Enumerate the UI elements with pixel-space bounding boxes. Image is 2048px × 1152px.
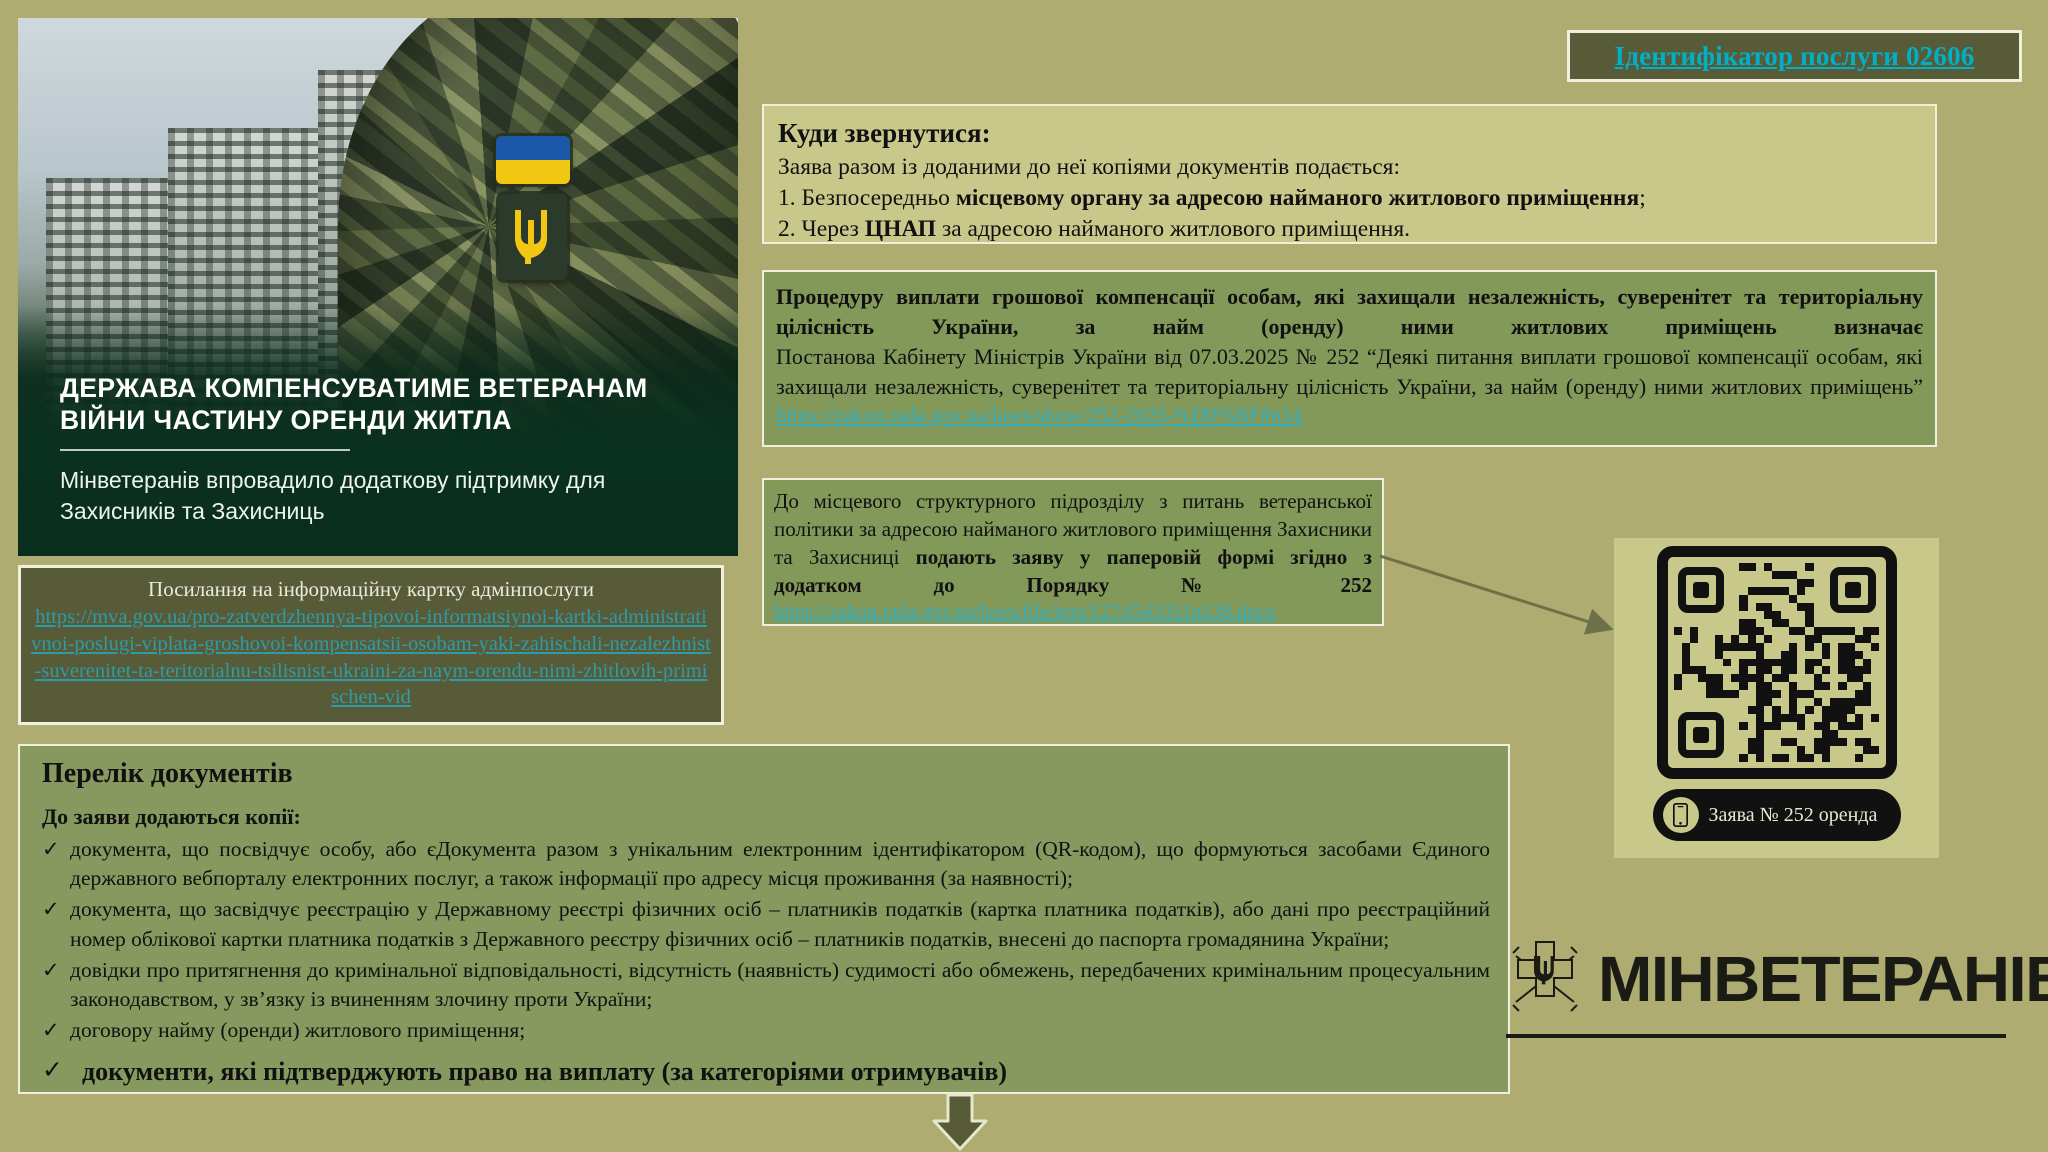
- submit-box-text: До місцевого структурного підрозділу з п…: [774, 488, 1372, 600]
- check-icon: ✓: [42, 956, 60, 985]
- check-icon: ✓: [42, 1016, 60, 1045]
- hero-photo: ДЕРЖАВА КОМПЕНСУВАТИМЕ ВЕТЕРАНАМ ВІЙНИ Ч…: [18, 18, 738, 556]
- qr-caption-label: Заява № 252 оренда: [1709, 804, 1878, 827]
- list-item-text: договору найму (оренди) житлового приміщ…: [70, 1016, 1490, 1045]
- trident-patch-icon: [499, 194, 567, 280]
- contact-box-title: Куди звернутися:: [778, 118, 1921, 149]
- photo-subtitle: Мінветеранів впровадило додаткову підтри…: [60, 465, 712, 526]
- photo-headline: ДЕРЖАВА КОМПЕНСУВАТИМЕ ВЕТЕРАНАМ ВІЙНИ Ч…: [60, 372, 712, 437]
- contact-item-2-bold: ЦНАП: [865, 216, 936, 242]
- contact-box-item-2: 2. Через ЦНАП за адресою найманого житло…: [778, 214, 1921, 245]
- qr-finder-bottom-left: [1678, 712, 1724, 758]
- list-item-text: документа, що посвідчує особу, або єДоку…: [70, 835, 1490, 893]
- contact-box-item-1: 1. Безпосередньо місцевому органу за адр…: [778, 183, 1921, 214]
- contact-item-1-prefix: 1. Безпосередньо: [778, 185, 956, 211]
- contact-box-intro: Заява разом із доданими до неї копіями д…: [778, 152, 1921, 183]
- info-card-link-title: Посилання на інформаційну картку адмінпо…: [31, 576, 711, 602]
- procedure-bold-intro: Процедуру виплати грошової компенсації о…: [776, 282, 1923, 342]
- ministry-of-veterans-emblem-icon: [1506, 936, 1584, 1022]
- diagonal-arrow-icon: [1376, 540, 1626, 650]
- procedure-box: Процедуру виплати грошової компенсації о…: [762, 270, 1937, 447]
- check-icon: ✓: [42, 895, 60, 924]
- list-item: ✓ довідки про притягнення до кримінально…: [42, 956, 1490, 1014]
- contact-item-1-suffix: ;: [1639, 185, 1646, 211]
- photo-caption: ДЕРЖАВА КОМПЕНСУВАТИМЕ ВЕТЕРАНАМ ВІЙНИ Ч…: [60, 372, 712, 526]
- service-id-badge[interactable]: Ідентифікатор послуги 02606: [1567, 30, 2022, 82]
- qr-code-panel[interactable]: Заява № 252 оренда: [1614, 538, 1939, 858]
- documents-title: Перелік документів: [42, 758, 1490, 790]
- documents-list-box: Перелік документів До заяви додаються ко…: [18, 744, 1510, 1094]
- submit-url[interactable]: https://zakon.rada.gov.ua/laws/file/text…: [774, 600, 1372, 625]
- contact-item-2-suffix: за адресою найманого житлового приміщенн…: [936, 216, 1410, 242]
- list-item-emphasized-text: документи, які підтверджують право на ви…: [82, 1054, 1490, 1089]
- list-item-text: довідки про притягнення до кримінальної …: [70, 956, 1490, 1014]
- list-item: ✓ договору найму (оренди) житлового прим…: [42, 1016, 1490, 1045]
- infographic-canvas: Ідентифікатор послуги 02606 ДЕРЖАВА КОМП…: [0, 0, 2048, 1152]
- check-icon: ✓: [42, 1054, 60, 1088]
- service-id-label: Ідентифікатор послуги 02606: [1615, 41, 1975, 72]
- list-item-emphasized: ✓ документи, які підтверджують право на …: [42, 1054, 1490, 1089]
- procedure-body: Постанова Кабінету Міністрів України від…: [776, 342, 1923, 402]
- down-arrow-icon: [926, 1093, 994, 1151]
- procedure-url[interactable]: https://zakon.rada.gov.ua/laws/show/252-…: [776, 402, 1923, 429]
- documents-subtitle: До заяви додаються копії:: [42, 804, 1490, 830]
- photo-caption-divider: [60, 449, 350, 451]
- info-card-link-url[interactable]: https://mva.gov.ua/pro-zatverdzhennya-ti…: [31, 604, 711, 711]
- qr-finder-top-right: [1830, 567, 1876, 613]
- contact-box: Куди звернутися: Заява разом із доданими…: [762, 104, 1937, 244]
- ministry-logo: МІНВЕТЕРАНІВ: [1506, 936, 2026, 1056]
- check-icon: ✓: [42, 835, 60, 864]
- ukraine-flag-patch-icon: [496, 136, 570, 184]
- logo-divider: [1506, 1034, 2006, 1038]
- qr-finder-top-left: [1678, 567, 1724, 613]
- qr-code-image[interactable]: [1657, 546, 1897, 779]
- ministry-wordmark: МІНВЕТЕРАНІВ: [1598, 947, 2048, 1011]
- info-card-link-box[interactable]: Посилання на інформаційну картку адмінпо…: [18, 565, 724, 725]
- list-item: ✓ документа, що засвідчує реєстрацію у Д…: [42, 895, 1490, 953]
- contact-item-1-bold: місцевому органу за адресою найманого жи…: [956, 185, 1639, 211]
- qr-caption-pill: Заява № 252 оренда: [1653, 789, 1901, 841]
- list-item-text: документа, що засвідчує реєстрацію у Дер…: [70, 895, 1490, 953]
- submit-application-box: До місцевого структурного підрозділу з п…: [762, 478, 1384, 626]
- mobile-phone-icon: [1663, 797, 1699, 833]
- list-item: ✓ документа, що посвідчує особу, або єДо…: [42, 835, 1490, 893]
- contact-item-2-prefix: 2. Через: [778, 216, 865, 242]
